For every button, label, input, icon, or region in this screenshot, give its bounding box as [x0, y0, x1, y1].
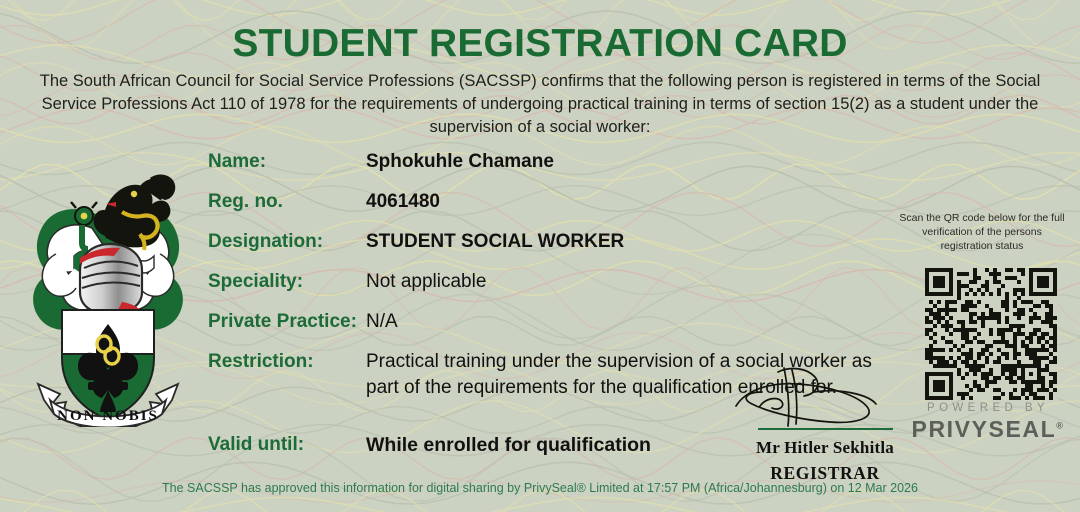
registered-mark: ®: [1056, 420, 1064, 430]
field-row-private-practice: Private Practice:N/A: [208, 304, 918, 340]
crest-motto: NON NOBIS: [57, 408, 159, 424]
student-registration-card: STUDENT REGISTRATION CARD The South Afri…: [0, 0, 1080, 512]
field-row-name: Name:Sphokuhle Chamane: [208, 144, 918, 180]
coat-of-arms-icon: NON NOBIS: [22, 142, 194, 427]
footer-approval-text: The SACSSP has approved this information…: [0, 481, 1080, 495]
field-label: Restriction:: [208, 344, 366, 375]
signature-line: [758, 428, 893, 430]
field-label: Speciality:: [208, 264, 366, 300]
qr-code-icon[interactable]: [925, 268, 1057, 400]
qr-instruction-text: Scan the QR code below for the full veri…: [898, 212, 1066, 254]
brand-name: PRIVYSEAL®: [908, 417, 1068, 441]
brand-wordmark: PRIVYSEAL: [912, 416, 1057, 442]
field-value: While enrolled for qualification: [366, 427, 651, 463]
field-row-reg-no: Reg. no.4061480: [208, 184, 918, 220]
intro-paragraph: The South African Council for Social Ser…: [28, 70, 1052, 138]
field-value: Sphokuhle Chamane: [366, 144, 554, 180]
page-title: STUDENT REGISTRATION CARD: [0, 22, 1080, 66]
field-label: Valid until:: [208, 427, 366, 463]
field-value: N/A: [366, 304, 398, 340]
field-value: 4061480: [366, 184, 440, 220]
powered-by-label: POWERED BY: [908, 402, 1068, 415]
field-label: Private Practice:: [208, 304, 366, 340]
field-value: Not applicable: [366, 264, 486, 300]
field-label: Name:: [208, 144, 366, 180]
privyseal-brand: POWERED BY PRIVYSEAL®: [908, 402, 1068, 441]
field-value: STUDENT SOCIAL WORKER: [366, 224, 624, 260]
field-row-speciality: Speciality:Not applicable: [208, 264, 918, 300]
field-label: Reg. no.: [208, 184, 366, 220]
field-label: Designation:: [208, 224, 366, 260]
field-row-designation: Designation:STUDENT SOCIAL WORKER: [208, 224, 918, 260]
